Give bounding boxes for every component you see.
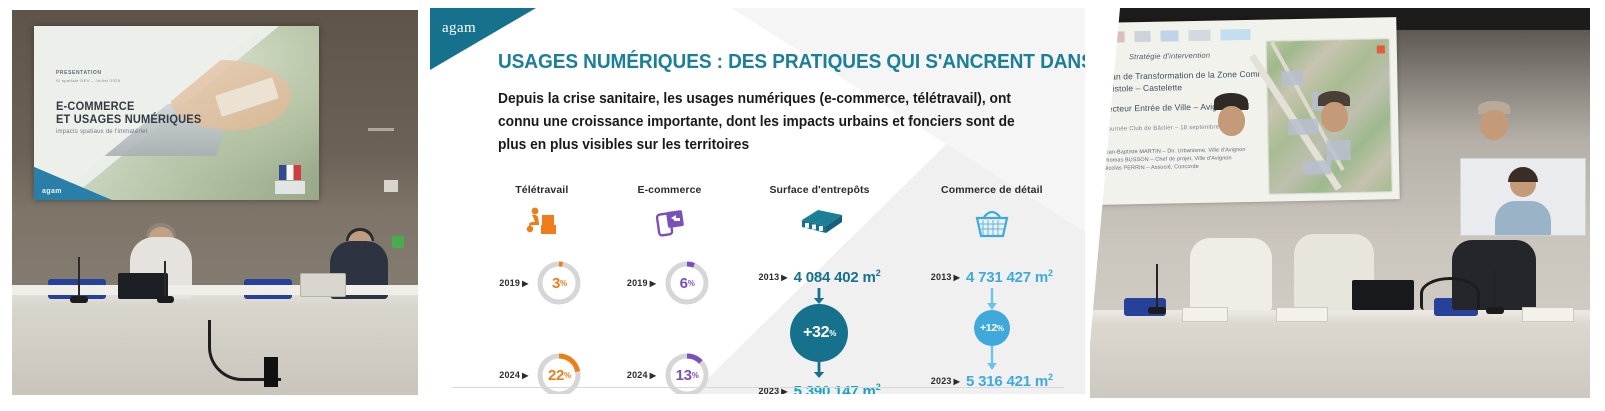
donut-value: 3% [534, 258, 584, 308]
desk-top-edge [12, 285, 418, 295]
year-label: 2019▶ [627, 278, 656, 288]
stats-row: Télétravail 2019▶ [478, 184, 1078, 384]
map-block [1288, 119, 1318, 136]
stat-label: Surface d'entrepôts [733, 184, 905, 196]
panelist-body [1190, 238, 1272, 310]
map-block [1281, 71, 1303, 85]
projection-screen-right: Stratégie d'intervention Plan de Transfo… [1096, 17, 1399, 205]
stat-label: Commerce de détail [906, 184, 1078, 196]
projection-screen-left: PRESENTATION Si spatiale DEV – Juillet 2… [34, 26, 319, 200]
conference-desk [1090, 310, 1590, 398]
conference-photo-right: Stratégie d'intervention Plan de Transfo… [1090, 8, 1590, 398]
slide-kicker: PRESENTATION [56, 70, 102, 76]
microphone-base [70, 296, 88, 303]
year-label: 2023▶ [931, 376, 960, 386]
donut-chart: 3% [534, 258, 584, 308]
name-card [1182, 307, 1228, 322]
donut-row-2019: 2019▶ 6% [606, 258, 734, 308]
slide-subtitle: impacts spatiaux de l'immatériel [56, 129, 147, 135]
smartphone-cart-icon [606, 200, 734, 246]
screenshot-root: PRESENTATION Si spatiale DEV – Juillet 2… [0, 0, 1605, 411]
growth-badge: +12% [974, 310, 1010, 346]
stat-column-commerce-detail: Commerce de détail 2013▶ 4 731 427 m2 [906, 184, 1078, 384]
french-flag-logo-icon [279, 165, 301, 180]
bottom-divider [452, 387, 1064, 388]
slide-kicker-sub: Si spatiale DEV – Juillet 2025 [56, 78, 120, 83]
teleworker-icon [478, 200, 606, 246]
value-row-2013: 2013▶ 4 084 402 m2 [733, 268, 905, 286]
shopping-basket-icon [906, 200, 1078, 246]
exit-light-icon [392, 236, 404, 248]
growth-badge-group: +32% [733, 288, 905, 378]
name-card [1276, 307, 1328, 322]
panelist-head [1218, 106, 1245, 136]
microphone-stem [78, 257, 80, 299]
slide-partner-logos [1102, 25, 1292, 45]
arrow-down-icon [985, 346, 999, 370]
value-text: 4 084 402 m2 [794, 268, 881, 286]
stat-column-entrepots: Surface d'entrepôts 2013▶ 4 084 402 m2 [733, 184, 905, 384]
map-block [1327, 140, 1351, 160]
video-call-window [1460, 158, 1586, 236]
cable-bundle [1420, 277, 1480, 310]
warehouse-icon [733, 200, 905, 246]
intro-paragraph: Depuis la crise sanitaire, les usages nu… [498, 88, 1030, 157]
year-label: 2024▶ [627, 370, 656, 380]
equipment-box [264, 357, 278, 387]
arrow-down-icon [812, 362, 826, 378]
donut-value: 6% [662, 258, 712, 308]
wall-sign [384, 180, 398, 192]
remote-participant-body [1495, 201, 1551, 235]
year-label: 2013▶ [758, 272, 787, 282]
stat-column-teletravail: Télétravail 2019▶ [478, 184, 606, 384]
microphone-stem [164, 261, 166, 299]
donut-row-2019: 2019▶ 3% [478, 258, 606, 308]
logo-icon [1160, 30, 1178, 41]
agam-logo-text: agam [442, 20, 476, 36]
growth-badge-group: +12% [906, 288, 1078, 370]
ministry-logo-icon [275, 181, 305, 194]
page-title: USAGES NUMÉRIQUES : DES PRATIQUES QUI S'… [498, 50, 1028, 74]
name-card [1522, 307, 1574, 322]
panelist-head [1480, 110, 1508, 140]
wall-mark [368, 128, 394, 131]
value-text: 5 390 147 m2 [794, 382, 881, 394]
conference-photo-left: PRESENTATION Si spatiale DEV – Juillet 2… [12, 10, 418, 395]
agam-logo: agam [442, 20, 476, 37]
stat-label: E-commerce [606, 184, 734, 196]
value-row-2023: 2023▶ 5 390 147 m2 [733, 382, 905, 394]
donut-chart: 6% [662, 258, 712, 308]
arrow-down-icon [812, 288, 826, 304]
map-block [1303, 160, 1331, 175]
year-label: 2013▶ [931, 272, 960, 282]
slide-date: Journée Club de Bâclier – 18 septembre 2… [1104, 124, 1235, 133]
microphone-stem [1494, 270, 1496, 310]
growth-badge: +32% [790, 304, 848, 362]
logo-icon [1134, 30, 1150, 41]
panelist-head [1321, 102, 1348, 132]
stat-column-ecommerce: E-commerce 2019▶ [606, 184, 734, 384]
remote-participant-hair [1508, 167, 1538, 182]
microphone-base [1148, 307, 1166, 314]
logo-icon [1188, 29, 1210, 40]
microphone-base [157, 296, 174, 303]
logo-icon [1220, 28, 1250, 40]
map-marker-icon [1377, 45, 1385, 53]
microphone-base [1486, 307, 1504, 314]
value-text: 4 731 427 m2 [966, 268, 1053, 286]
year-label: 2019▶ [499, 278, 528, 288]
slide-agam-logo: agam [42, 188, 62, 195]
arrow-down-icon [985, 288, 999, 310]
laptop [300, 273, 346, 297]
infographic-panel: agam USAGES NUMÉRIQUES : DES PRATIQUES Q… [430, 8, 1085, 394]
stat-label: Télétravail [478, 184, 606, 196]
slide-title-line2: ET USAGES NUMÉRIQUES [56, 113, 201, 126]
laptop [1352, 280, 1414, 310]
year-label: 2024▶ [499, 370, 528, 380]
slide-title: E-COMMERCE ET USAGES NUMÉRIQUES [56, 100, 201, 126]
microphone-stem [1156, 264, 1158, 310]
value-row-2013: 2013▶ 4 731 427 m2 [906, 268, 1078, 286]
slide-heading: Stratégie d'intervention [1129, 51, 1210, 62]
